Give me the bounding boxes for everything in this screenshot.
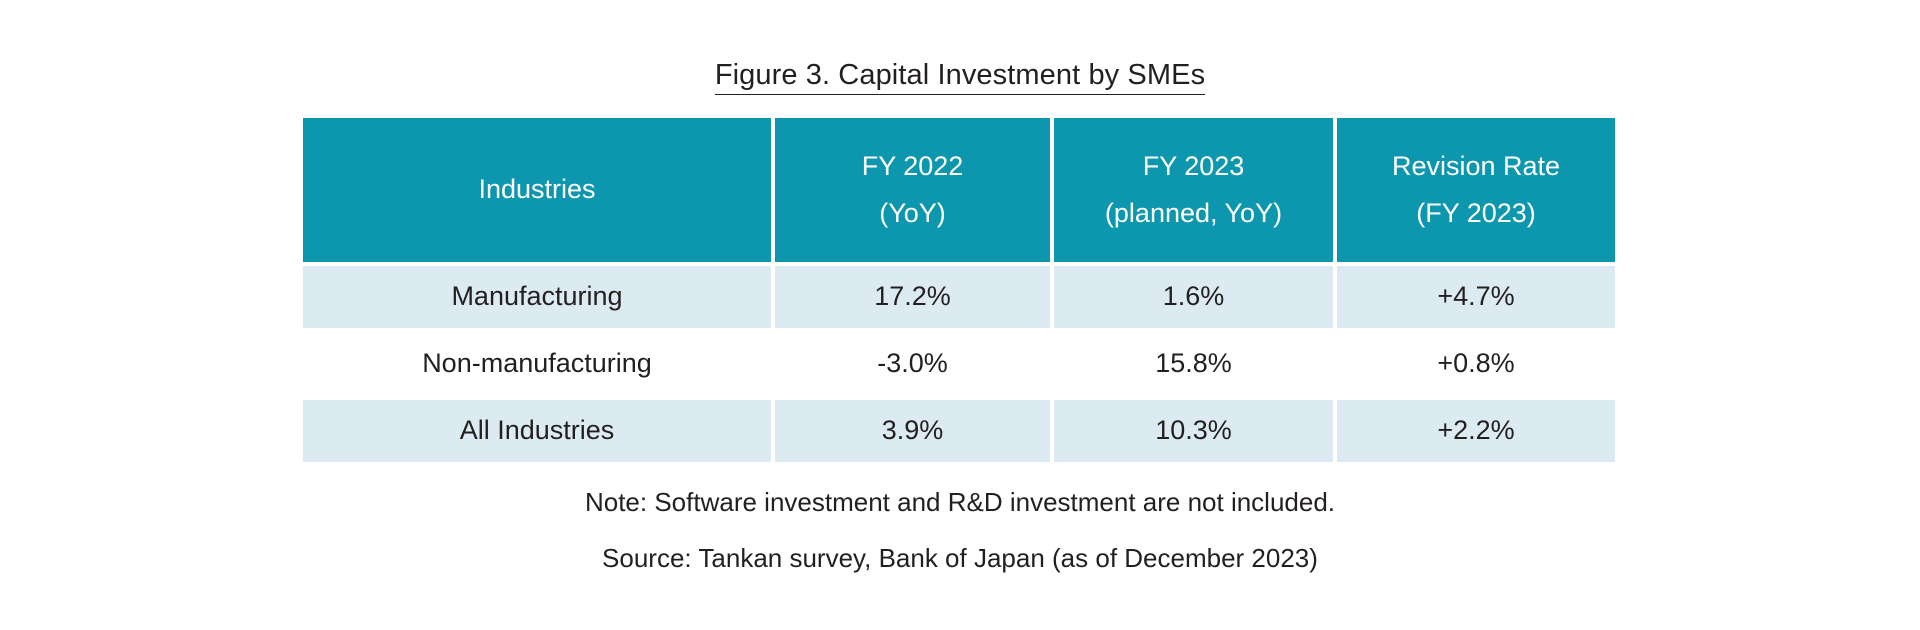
header-cell-industries: Industries bbox=[303, 118, 775, 262]
cell-industry: Non-manufacturing bbox=[303, 333, 775, 395]
figure-note: Note: Software investment and R&D invest… bbox=[0, 487, 1920, 518]
table-row: All Industries 3.9% 10.3% +2.2% bbox=[303, 400, 1615, 462]
header-line-1: FY 2022 bbox=[862, 147, 964, 186]
cell-revision: +2.2% bbox=[1337, 400, 1615, 462]
cell-industry: Manufacturing bbox=[303, 266, 775, 328]
header-line-2: (YoY) bbox=[879, 194, 946, 233]
header-line-1: Revision Rate bbox=[1392, 147, 1560, 186]
cell-fy2022: 3.9% bbox=[775, 400, 1054, 462]
cell-revision: +4.7% bbox=[1337, 266, 1615, 328]
figure-title: Figure 3. Capital Investment by SMEs bbox=[0, 59, 1920, 92]
header-line-2: (FY 2023) bbox=[1416, 194, 1536, 233]
header-cell-fy2023: FY 2023 (planned, YoY) bbox=[1054, 118, 1337, 262]
cell-fy2022: 17.2% bbox=[775, 266, 1054, 328]
header-cell-revision-rate: Revision Rate (FY 2023) bbox=[1337, 118, 1615, 262]
figure-source: Source: Tankan survey, Bank of Japan (as… bbox=[0, 543, 1920, 574]
table-row: Non-manufacturing -3.0% 15.8% +0.8% bbox=[303, 333, 1615, 395]
cell-revision: +0.8% bbox=[1337, 333, 1615, 395]
header-line-1: FY 2023 bbox=[1143, 147, 1245, 186]
cell-industry: All Industries bbox=[303, 400, 775, 462]
cell-fy2023: 1.6% bbox=[1054, 266, 1337, 328]
capital-investment-table: Industries FY 2022 (YoY) FY 2023 (planne… bbox=[303, 118, 1615, 462]
header-line-1: Industries bbox=[478, 170, 595, 209]
cell-fy2022: -3.0% bbox=[775, 333, 1054, 395]
header-cell-fy2022: FY 2022 (YoY) bbox=[775, 118, 1054, 262]
header-line-2: (planned, YoY) bbox=[1105, 194, 1282, 233]
figure-title-text: Figure 3. Capital Investment by SMEs bbox=[715, 59, 1205, 95]
figure-container: Figure 3. Capital Investment by SMEs Ind… bbox=[0, 0, 1920, 630]
table-header-row: Industries FY 2022 (YoY) FY 2023 (planne… bbox=[303, 118, 1615, 262]
cell-fy2023: 15.8% bbox=[1054, 333, 1337, 395]
cell-fy2023: 10.3% bbox=[1054, 400, 1337, 462]
table-row: Manufacturing 17.2% 1.6% +4.7% bbox=[303, 266, 1615, 328]
